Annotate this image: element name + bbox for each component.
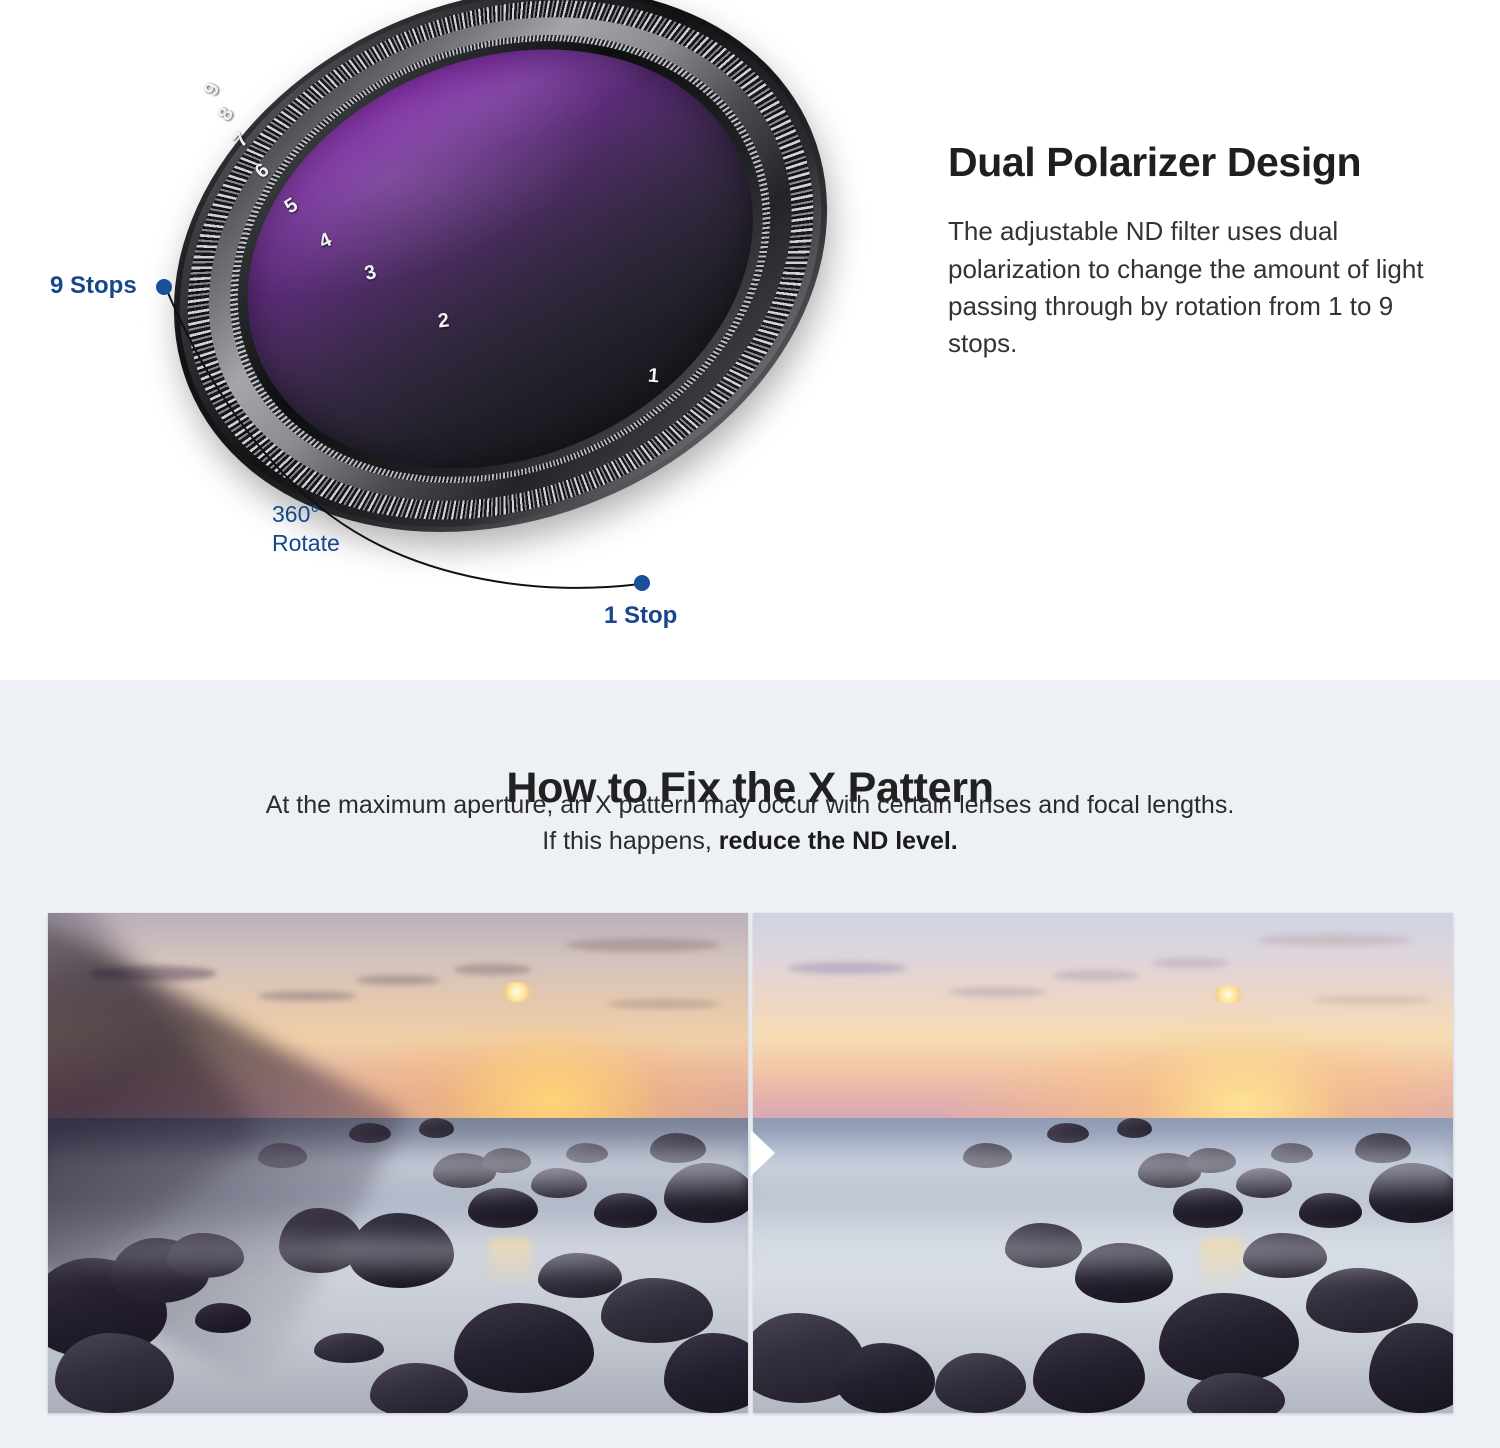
section-description: The adjustable ND filter uses dual polar… [948,213,1438,363]
cloud [949,987,1047,997]
callout-dot-min [634,575,650,591]
dual-polarizer-section: 9 8 7 6 5 4 3 2 1 9 Stops 1 Stop 360° Ro… [0,0,1500,680]
sun [500,982,534,1002]
cloud [1257,934,1411,946]
x-pattern-desc-emphasis: reduce the ND level. [719,827,958,855]
x-pattern-desc-line1: At the maximum aperture, an X pattern ma… [266,791,1235,819]
photo-without-x-pattern [753,913,1453,1413]
water-mist [753,1133,1453,1203]
cloud [608,999,720,1009]
x-pattern-section: How to Fix the X Pattern At the maximum … [0,680,1500,1448]
photo-with-x-pattern [48,913,748,1413]
cloud [1152,958,1229,968]
seascape-scene-corrected [753,913,1453,1413]
cloud [454,964,531,974]
callout-label-rotate: 360° Rotate [272,500,340,559]
filter-stage [92,0,927,672]
nd-filter-product-image: 9 8 7 6 5 4 3 2 1 [150,0,870,570]
rock [314,1333,384,1363]
sun [1212,985,1244,1004]
sky [753,913,1453,1118]
cloud [1054,970,1138,980]
page-title: Dual Polarizer Design [948,140,1438,185]
copy-block: Dual Polarizer Design The adjustable ND … [948,140,1438,363]
cloud [1313,995,1432,1005]
x-pattern-desc-line2-plain: If this happens, [542,827,719,855]
x-pattern-description: At the maximum aperture, an X pattern ma… [150,788,1350,859]
cloud [258,991,356,1001]
water-mist [753,1223,1453,1283]
callout-label-1-stop: 1 Stop [604,602,677,630]
seascape-scene-defective [48,913,748,1413]
callout-label-9-stops: 9 Stops [50,272,137,300]
cloud [566,938,720,952]
scale-number: 1 [647,365,660,389]
cloud [356,975,440,985]
cloud [788,962,907,974]
chevron-right-icon [748,1130,778,1176]
